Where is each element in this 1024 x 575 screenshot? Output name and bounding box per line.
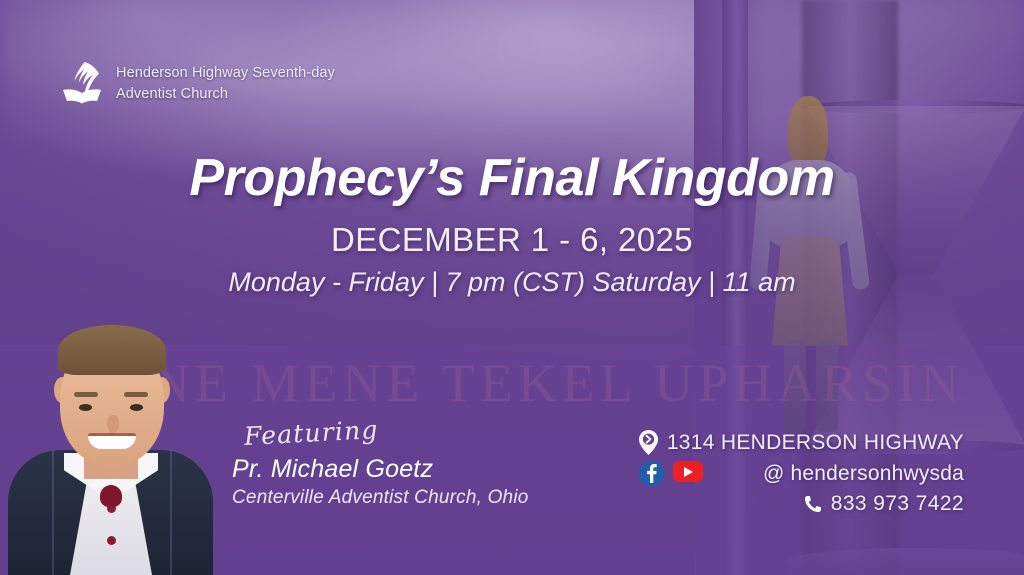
portrait-shirt-button-lower xyxy=(107,536,116,545)
event-times: Monday - Friday | 7 pm (CST) Saturday | … xyxy=(0,264,1024,300)
portrait-eye-right xyxy=(130,404,143,411)
church-brand: Henderson Highway Seventh-day Adventist … xyxy=(62,60,335,108)
phone-icon xyxy=(804,495,822,513)
address-row: 1314 HENDERSON HIGHWAY xyxy=(639,430,964,455)
address-text: 1314 HENDERSON HIGHWAY xyxy=(667,431,964,455)
youtube-play-triangle xyxy=(684,467,693,477)
phone-row: 833 973 7422 xyxy=(639,492,964,516)
portrait-nose xyxy=(107,415,119,433)
speaker-name: Pr. Michael Goetz xyxy=(232,455,562,484)
portrait-eyebrow-right xyxy=(124,392,148,397)
portrait-hair xyxy=(58,325,166,375)
featuring-block: Featuring Pr. Michael Goetz Centerville … xyxy=(232,422,562,509)
facebook-f-glyph xyxy=(646,464,657,483)
facebook-icon[interactable] xyxy=(639,461,664,486)
social-handle-text: @ hendersonhwysda xyxy=(763,462,964,486)
event-title: Prophecy’s Final Kingdom xyxy=(0,148,1024,208)
speaker-affiliation: Centerville Adventist Church, Ohio xyxy=(232,487,562,509)
youtube-icon[interactable] xyxy=(673,461,703,482)
church-name-text: Henderson Highway Seventh-day Adventist … xyxy=(116,63,335,105)
handle-row: @ hendersonhwysda xyxy=(639,461,964,486)
portrait-eye-left xyxy=(79,404,92,411)
map-pin-icon xyxy=(639,430,658,455)
phone-text: 833 973 7422 xyxy=(831,492,964,516)
portrait-collar-accent xyxy=(100,485,122,507)
portrait-smile xyxy=(88,433,136,449)
social-icons xyxy=(639,461,703,486)
event-promo-poster: MENE MENE TEKEL UPHARSIN Henderson Highw… xyxy=(0,0,1024,575)
contact-block: 1314 HENDERSON HIGHWAY @ hendersonhwysda… xyxy=(639,430,964,522)
event-date: DECEMBER 1 - 6, 2025 xyxy=(0,221,1024,259)
adventist-flame-book-logo-icon xyxy=(62,60,102,108)
portrait-eyebrow-left xyxy=(74,392,98,397)
speaker-portrait xyxy=(8,280,213,575)
